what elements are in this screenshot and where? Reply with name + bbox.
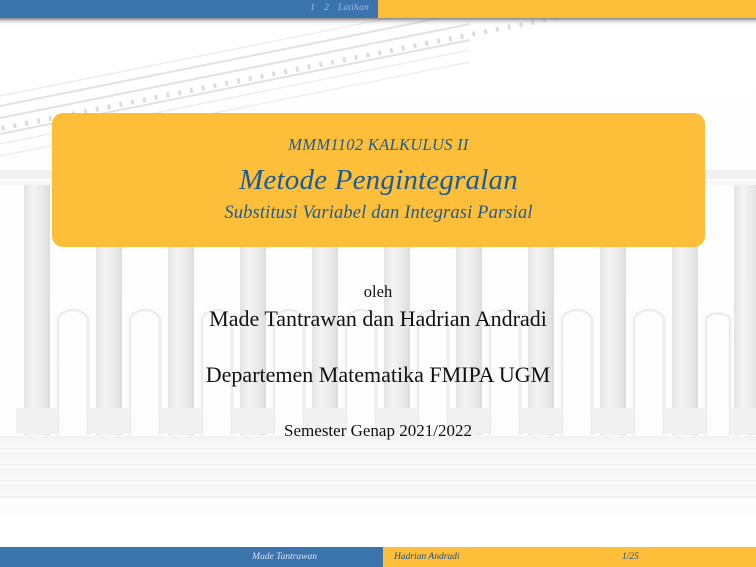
section-nav: 1 2 Latihan (310, 4, 369, 14)
page-title: Metode Pengintegralan (239, 164, 518, 196)
authors: Made Tantrawan dan Hadrian Andradi (0, 305, 756, 333)
footbar-institute-section: Hadrian Andradi (383, 547, 609, 567)
footbar-author: Made Tantrawan (252, 552, 317, 562)
institute: Departemen Matematika FMIPA UGM (0, 361, 756, 389)
headbar-shadow (0, 18, 756, 26)
title-slide: 1 2 Latihan MMM1102 KALKULUS II Metode P… (0, 0, 756, 567)
headbar: 1 2 Latihan (0, 0, 756, 18)
nav-item-1[interactable]: 1 (310, 4, 315, 14)
headbar-nav-section: 1 2 Latihan (0, 0, 378, 18)
footbar: Made Tantrawan Hadrian Andradi 1/25 (0, 547, 756, 567)
footbar-author-section: Made Tantrawan (0, 547, 383, 567)
date: Semester Genap 2021/2022 (0, 420, 756, 441)
title-block: MMM1102 KALKULUS II Metode Pengintegrala… (52, 113, 705, 247)
page-subtitle: Substitusi Variabel dan Integrasi Parsia… (224, 203, 532, 224)
headbar-accent-section (378, 0, 756, 18)
nav-item-latihan[interactable]: Latihan (338, 4, 369, 14)
course-code: MMM1102 KALKULUS II (288, 136, 468, 154)
nav-item-2[interactable]: 2 (324, 4, 329, 14)
footbar-page-section: 1/25 (609, 547, 756, 567)
title-meta: oleh Made Tantrawan dan Hadrian Andradi … (0, 282, 756, 441)
byline-label: oleh (0, 282, 756, 303)
footbar-page-number: 1/25 (622, 552, 639, 562)
footbar-institute: Hadrian Andradi (394, 552, 460, 562)
